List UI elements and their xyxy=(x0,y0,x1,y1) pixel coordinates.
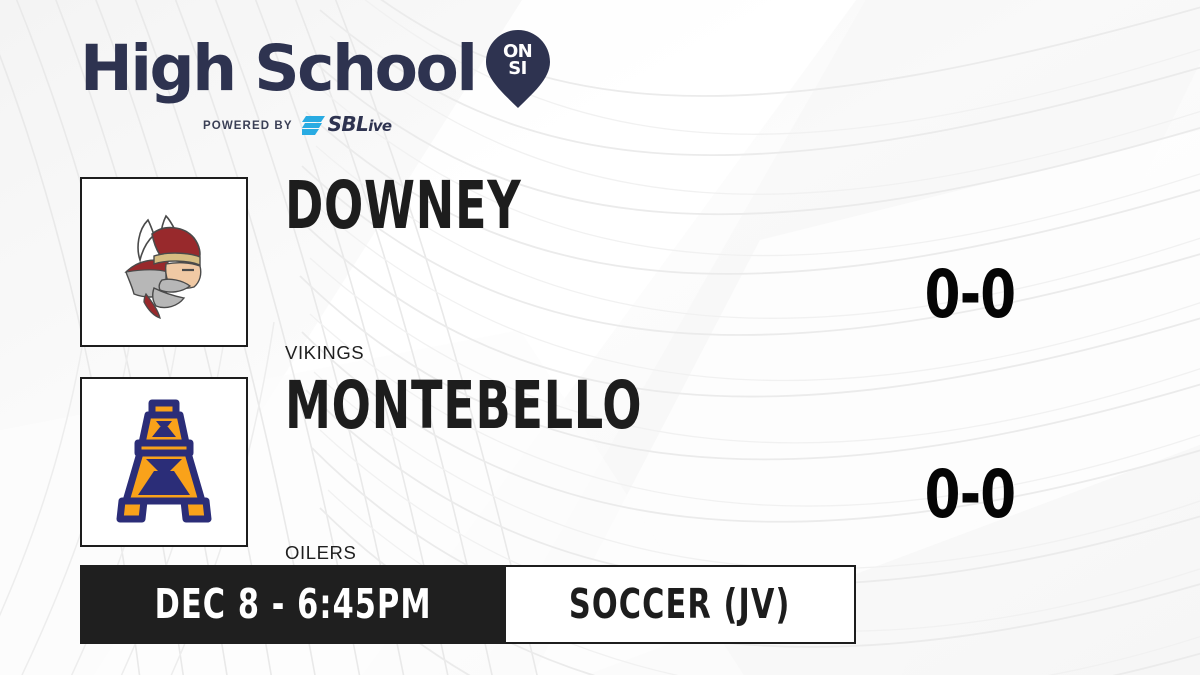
brand-header: High School ON SI POWERED BY xyxy=(80,28,550,136)
powered-by-label: POWERED BY xyxy=(203,120,293,132)
sblive-logo: SBLive xyxy=(302,115,392,136)
oil-derrick-logo xyxy=(108,397,220,527)
team-text-montebello: MONTEBELLO OILERS xyxy=(285,377,795,439)
team-mascot-oilers: OILERS xyxy=(285,542,356,564)
team-logo-box-montebello xyxy=(80,377,248,547)
score-montebello: 0-0 xyxy=(915,462,1024,528)
sblive-suffix: ive xyxy=(368,117,391,135)
game-sport-chip: SOCCER (JV) xyxy=(506,565,855,644)
game-datetime-chip: DEC 8 - 6:45PM xyxy=(80,565,506,644)
score-downey: 0-0 xyxy=(915,262,1024,328)
on-si-pin-text: ON SI xyxy=(486,43,550,77)
viking-head-logo xyxy=(104,202,224,322)
team-row-away: MONTEBELLO OILERS xyxy=(80,377,795,547)
brand-title: High School xyxy=(80,37,476,100)
on-si-pin-icon: ON SI xyxy=(486,30,550,108)
team-logo-box-downey xyxy=(80,177,248,347)
team-row-home: DOWNEY VIKINGS xyxy=(80,177,623,347)
game-datetime-text: DEC 8 - 6:45PM xyxy=(155,584,432,625)
sblive-wordmark: SBLive xyxy=(328,115,392,136)
team-name-montebello: MONTEBELLO xyxy=(285,373,642,439)
game-info-bar: DEC 8 - 6:45PM SOCCER (JV) xyxy=(80,565,856,644)
powered-by-row: POWERED BY SBLive xyxy=(203,115,550,136)
pin-line-si: SI xyxy=(486,60,550,77)
sblive-main: SBL xyxy=(328,112,369,136)
sblive-s-mark-icon xyxy=(302,116,325,135)
high-school-on-si-logo: High School ON SI xyxy=(80,28,550,108)
team-mascot-vikings: VIKINGS xyxy=(285,342,364,364)
game-sport-text: SOCCER (JV) xyxy=(569,584,791,625)
scoreboard-graphic: High School ON SI POWERED BY xyxy=(0,0,1200,675)
team-text-downey: DOWNEY VIKINGS xyxy=(285,177,623,239)
team-name-downey: DOWNEY xyxy=(285,173,521,239)
